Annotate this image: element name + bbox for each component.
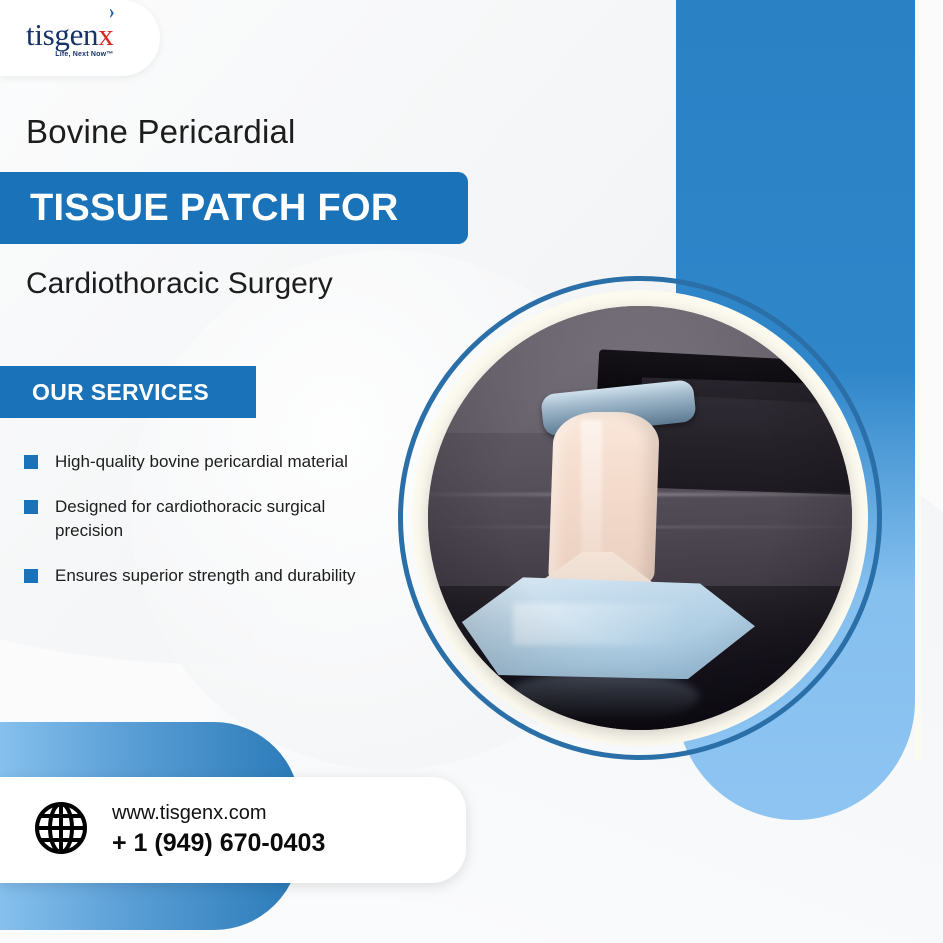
logo-wordmark: tisgenx› — [26, 19, 113, 50]
contact-card: www.tisgenx.com + 1 (949) 670-0403 — [0, 777, 466, 883]
product-photo — [428, 306, 852, 730]
list-item: High-quality bovine pericardial material — [24, 450, 364, 474]
list-item: Designed for cardiothoracic surgical pre… — [24, 495, 364, 543]
bullet-square-icon — [24, 500, 38, 514]
list-item: Ensures superior strength and durability — [24, 564, 364, 588]
photo-vignette — [428, 306, 852, 730]
list-item-label: Designed for cardiothoracic surgical pre… — [55, 495, 364, 543]
headline-line-2: TISSUE PATCH FOR — [30, 187, 399, 230]
website-link[interactable]: www.tisgenx.com — [112, 801, 325, 826]
bullet-square-icon — [24, 455, 38, 469]
logo-tagline: Life, Next Now™ — [26, 51, 113, 58]
headline-line-1: Bovine Pericardial — [26, 113, 296, 151]
globe-icon — [34, 801, 88, 860]
list-item-label: Ensures superior strength and durability — [55, 564, 356, 588]
headline-highlight-band: TISSUE PATCH FOR — [0, 172, 468, 244]
services-heading-band: OUR SERVICES — [0, 366, 256, 418]
services-list: High-quality bovine pericardial material… — [24, 450, 364, 610]
bullet-square-icon — [24, 569, 38, 583]
headline-line-3: Cardiothoracic Surgery — [26, 267, 333, 301]
phone-number[interactable]: + 1 (949) 670-0403 — [112, 828, 325, 859]
chevron-right-icon: › — [109, 0, 115, 22]
list-item-label: High-quality bovine pericardial material — [55, 450, 348, 474]
poster-canvas: tisgenx› Life, Next Now™ Bovine Pericard… — [0, 0, 943, 943]
right-panel-edge — [915, 0, 921, 760]
contact-details: www.tisgenx.com + 1 (949) 670-0403 — [112, 801, 325, 859]
logo-word-text: tisgen — [26, 17, 98, 52]
logo: tisgenx› Life, Next Now™ — [26, 19, 113, 58]
services-heading: OUR SERVICES — [32, 379, 209, 406]
logo-container[interactable]: tisgenx› Life, Next Now™ — [0, 0, 160, 76]
